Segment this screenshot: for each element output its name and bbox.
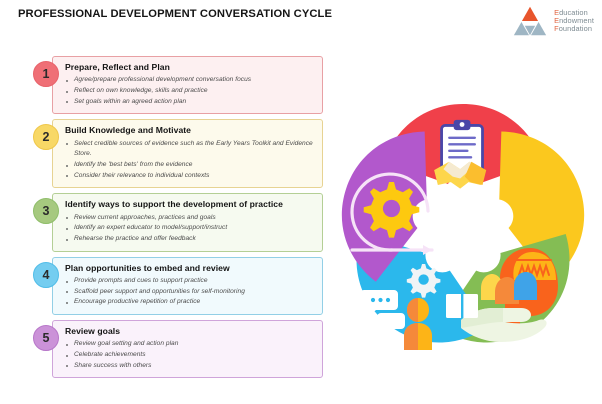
step-bullet: Review current approaches, practices and… [65,213,314,224]
step-bullet: Scaffold peer support and opportunities … [65,287,314,298]
step-3: 3Identify ways to support the developmen… [33,193,323,251]
step-bullet-list: Review current approaches, practices and… [65,213,314,245]
step-title: Review goals [65,326,314,336]
page-header: PROFESSIONAL DEVELOPMENT CONVERSATION CY… [0,0,602,46]
step-4: 4Plan opportunities to embed and reviewP… [33,257,323,315]
clipboard-handshake-icon [434,120,486,189]
steps-list: 1Prepare, Reflect and PlanAgree/prepare … [33,56,323,383]
step-bullet: Select credible sources of evidence such… [65,139,314,160]
step-bullet-list: Provide prompts and cues to support prac… [65,276,314,308]
step-card: Prepare, Reflect and PlanAgree/prepare p… [52,56,323,114]
step-title: Plan opportunities to embed and review [65,263,314,273]
step-number-badge: 1 [33,61,59,87]
poster-canvas: PROFESSIONAL DEVELOPMENT CONVERSATION CY… [0,0,602,404]
step-1: 1Prepare, Reflect and PlanAgree/prepare … [33,56,323,114]
step-5: 5Review goalsReview goal setting and act… [33,320,323,378]
step-bullet: Provide prompts and cues to support prac… [65,276,314,287]
logo: Education Endowment Foundation [511,4,594,38]
step-bullet: Consider their relevance to individual c… [65,171,314,182]
step-bullet: Review goal setting and action plan [65,339,314,350]
step-bullet: Set goals within an agreed action plan [65,97,314,108]
step-bullet: Celebrate achievements [65,350,314,361]
step-title: Prepare, Reflect and Plan [65,62,314,72]
step-card: Plan opportunities to embed and reviewPr… [52,257,323,315]
step-card: Review goalsReview goal setting and acti… [52,320,323,378]
conversation-cycle-wheel [332,96,594,358]
step-bullet-list: Agree/prepare professional development c… [65,75,314,107]
step-title: Build Knowledge and Motivate [65,125,314,135]
step-bullet: Agree/prepare professional development c… [65,75,314,86]
step-bullet: Encourage productive repetition of pract… [65,297,314,308]
step-card: Build Knowledge and MotivateSelect credi… [52,119,323,188]
step-bullet: Identify an expert educator to model/sup… [65,223,314,234]
step-bullet-list: Review goal setting and action planCeleb… [65,339,314,371]
step-2: 2Build Knowledge and MotivateSelect cred… [33,119,323,188]
logo-rest-foundation: oundation [559,24,592,33]
logo-line-foundation: Foundation [554,25,594,33]
logo-wordmark: Education Endowment Foundation [554,9,594,34]
step-bullet: Share success with others [65,361,314,372]
step-title: Identify ways to support the development… [65,199,314,209]
eef-triangle-mark-icon [511,4,549,38]
step-bullet: Rehearse the practice and offer feedback [65,234,314,245]
step-card: Identify ways to support the development… [52,193,323,251]
step-number-badge: 4 [33,262,59,288]
step-number-badge: 5 [33,325,59,351]
wheel-svg [332,96,594,358]
step-bullet: Identify the 'best bets' from the eviden… [65,160,314,171]
step-bullet: Reflect on own knowledge, skills and pra… [65,86,314,97]
step-bullet-list: Select credible sources of evidence such… [65,139,314,182]
page-title: PROFESSIONAL DEVELOPMENT CONVERSATION CY… [18,8,332,20]
